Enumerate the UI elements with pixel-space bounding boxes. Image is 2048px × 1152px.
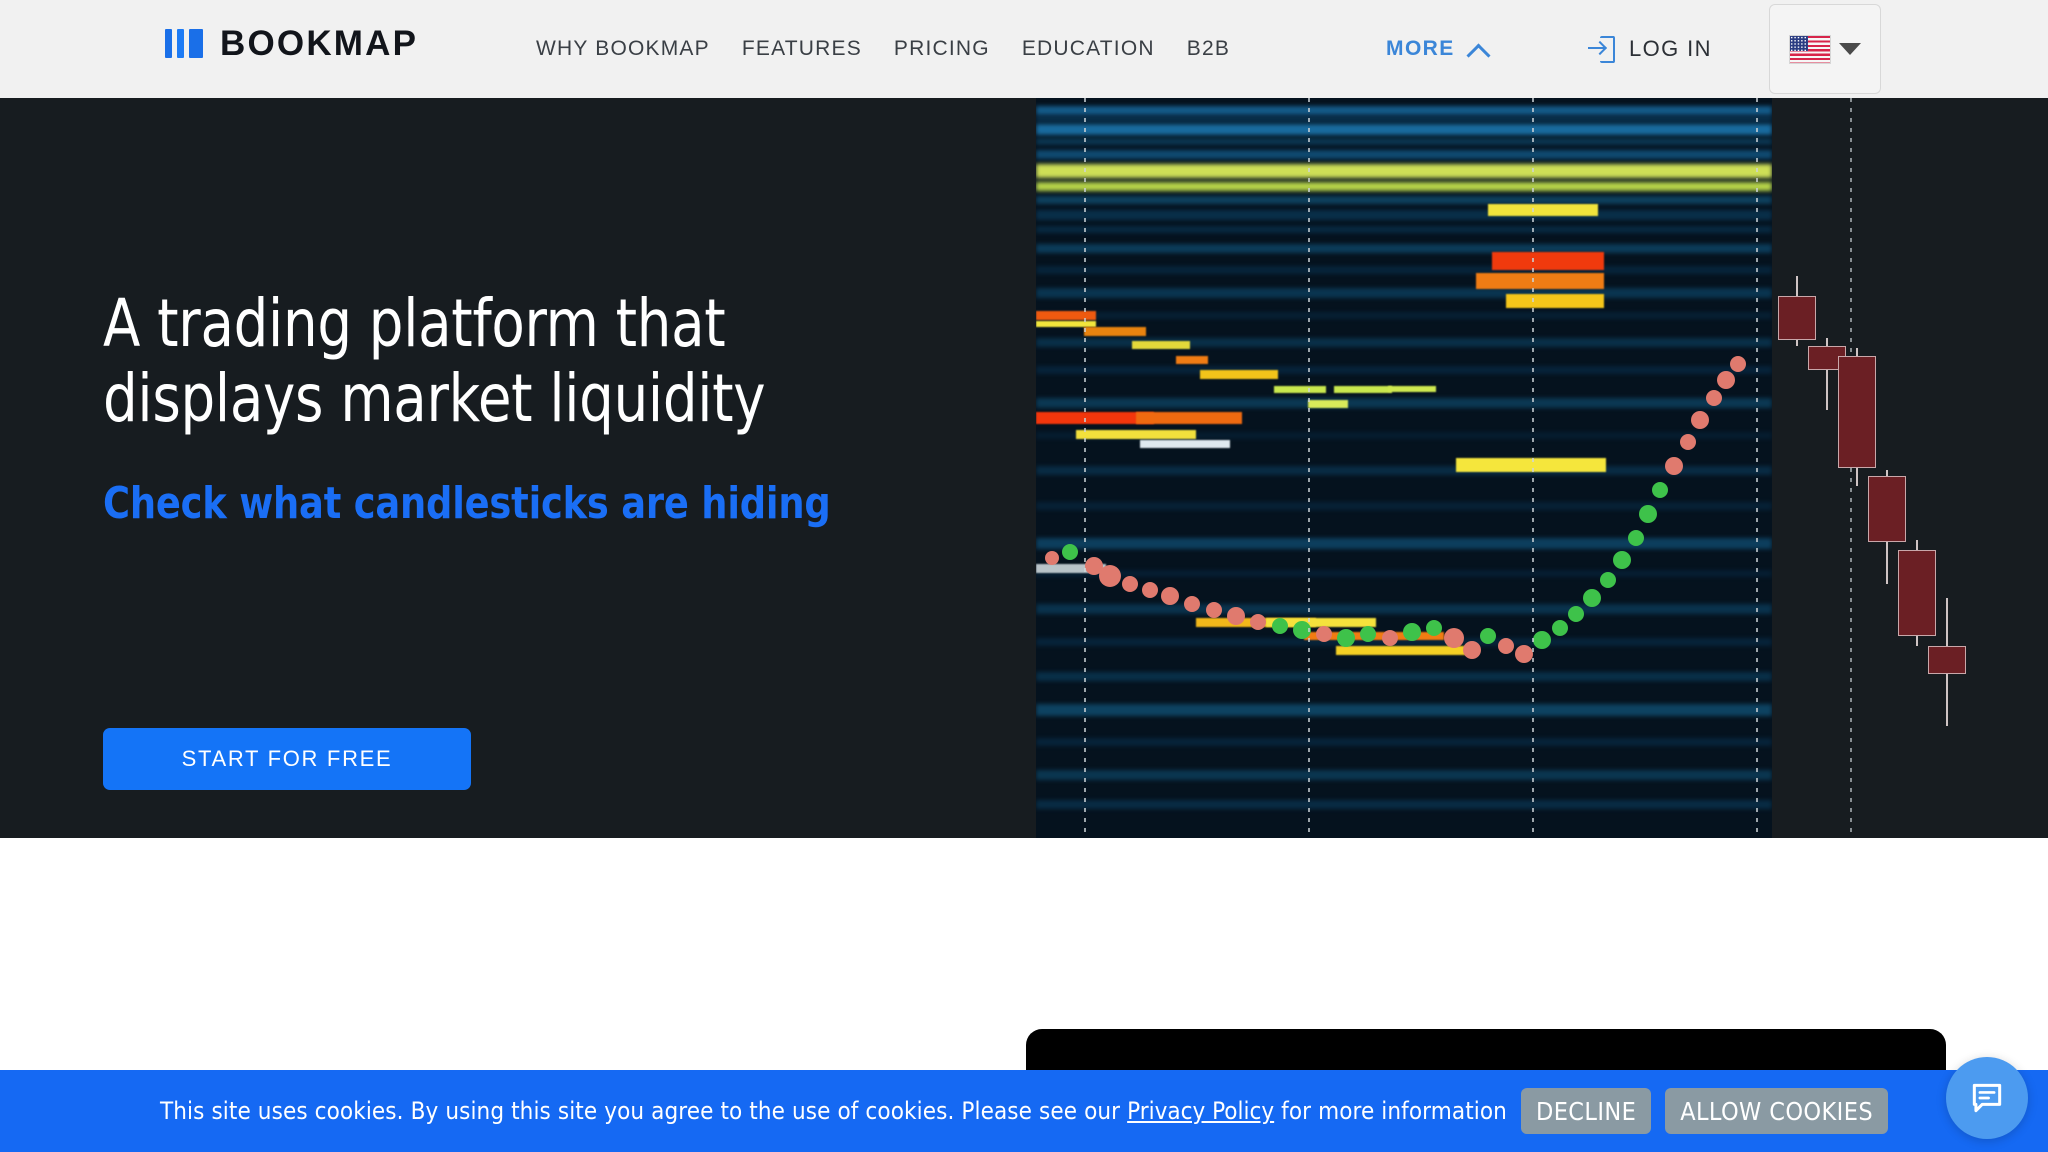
nav-item-education[interactable]: EDUCATION [1006, 37, 1171, 61]
language-selector[interactable] [1769, 4, 1881, 94]
nav-item-features[interactable]: FEATURES [726, 37, 878, 61]
nav-item-b2b[interactable]: B2B [1171, 37, 1246, 61]
login-enter-icon [1588, 36, 1615, 63]
hero-section: A trading platform that displays market … [0, 98, 2048, 838]
logo[interactable]: BOOKMAP [165, 26, 418, 61]
site-header: BOOKMAP WHY BOOKMAP FEATURES PRICING EDU… [0, 0, 2048, 98]
start-for-free-button[interactable]: START FOR FREE [103, 728, 471, 790]
allow-cookies-button[interactable]: ALLOW COOKIES [1665, 1088, 1888, 1134]
decline-cookies-button[interactable]: DECLINE [1521, 1088, 1651, 1134]
chevron-up-icon [1468, 43, 1490, 56]
chat-bubble-icon [1968, 1079, 2006, 1117]
candlestick-chart [1772, 98, 1962, 838]
liquidity-heatmap-chart [1036, 98, 1772, 838]
page-title: A trading platform that displays market … [103, 286, 765, 436]
us-flag-icon [1790, 36, 1830, 63]
cookie-message: This site uses cookies. By using this si… [160, 1097, 1120, 1125]
privacy-policy-link[interactable]: Privacy Policy [1127, 1097, 1274, 1125]
more-label: MORE [1386, 37, 1455, 61]
bookmap-bars-icon [165, 29, 203, 58]
hero-subtitle: Check what candlesticks are hiding [103, 478, 831, 529]
nav-item-pricing[interactable]: PRICING [878, 37, 1006, 61]
cookie-banner: This site uses cookies. By using this si… [0, 1070, 2048, 1152]
chat-widget-button[interactable] [1946, 1057, 2028, 1139]
login-button[interactable]: LOG IN [1588, 0, 1712, 98]
logo-text: BOOKMAP [220, 26, 418, 61]
main-navigation: WHY BOOKMAP FEATURES PRICING EDUCATION B… [520, 0, 1506, 98]
login-label: LOG IN [1629, 36, 1712, 62]
nav-item-why-bookmap[interactable]: WHY BOOKMAP [520, 37, 726, 61]
cookie-message-after: for more information [1281, 1097, 1507, 1125]
chart-gridlines [1036, 98, 1772, 838]
chevron-down-icon [1839, 43, 1861, 55]
nav-item-more[interactable]: MORE [1246, 37, 1506, 61]
